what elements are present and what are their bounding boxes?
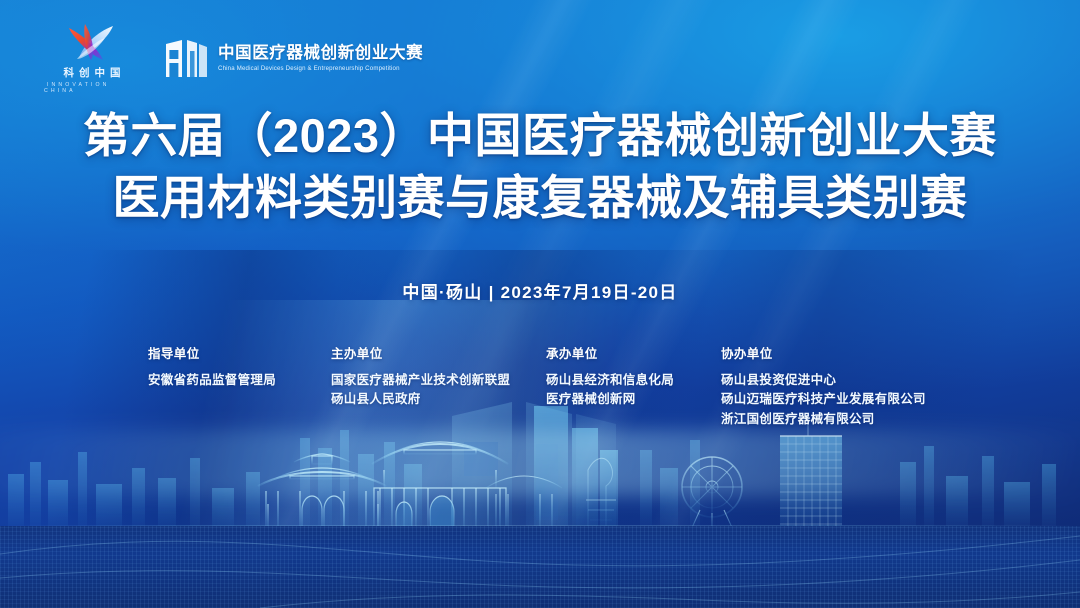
organizer-unit: 国家医疗器械产业技术创新联盟	[331, 371, 546, 390]
organizer-unit: 医疗器械创新网	[546, 390, 721, 409]
organizer-unit: 砀山县投资促进中心	[721, 371, 926, 390]
organizer-list: 指导单位 安徽省药品监督管理局 主办单位 国家医疗器械产业技术创新联盟 砀山县人…	[148, 343, 968, 429]
logo-bar: 科创中国 INNOVATION CHINA 中国医疗器械创新创业大赛 China…	[44, 22, 423, 94]
phoenix-bird-emblem	[61, 22, 123, 62]
organizer-unit: 砀山县人民政府	[331, 390, 546, 409]
organizer-unit: 浙江国创医疗器械有限公司	[721, 410, 926, 429]
organizer-unit: 砀山迈瑞医疗科技产业发展有限公司	[721, 390, 926, 409]
open-door-emblem	[164, 37, 208, 79]
innovation-china-logo: 科创中国 INNOVATION CHINA	[44, 22, 140, 94]
organizer-column-undertaker: 承办单位 砀山县经济和信息化局 医疗器械创新网	[546, 343, 721, 429]
innovation-china-cn: 科创中国	[59, 65, 126, 80]
organizer-unit: 砀山县经济和信息化局	[546, 371, 721, 390]
organizer-unit: 安徽省药品监督管理局	[148, 371, 331, 390]
title-line-1: 第六届（2023）中国医疗器械创新创业大赛	[0, 105, 1080, 167]
organizer-column-host: 主办单位 国家医疗器械产业技术创新联盟 砀山县人民政府	[331, 343, 546, 429]
ground-curve-lines	[0, 520, 1080, 608]
event-location-date: 中国·砀山 | 2023年7月19日-20日	[0, 278, 1080, 303]
organizer-column-coorganizer: 协办单位 砀山县投资促进中心 砀山迈瑞医疗科技产业发展有限公司 浙江国创医疗器械…	[721, 343, 926, 429]
page-title: 第六届（2023）中国医疗器械创新创业大赛 医用材料类别赛与康复器械及辅具类别赛	[0, 105, 1080, 229]
innovation-china-en: INNOVATION CHINA	[44, 82, 140, 94]
organizer-role: 指导单位	[148, 343, 331, 362]
competition-logo: 中国医疗器械创新创业大赛 China Medical Devices Desig…	[164, 37, 423, 79]
event-banner: 科创中国 INNOVATION CHINA 中国医疗器械创新创业大赛 China…	[0, 0, 1080, 608]
organizer-role: 主办单位	[331, 343, 546, 362]
organizer-role: 承办单位	[546, 343, 721, 362]
title-line-2: 医用材料类别赛与康复器械及辅具类别赛	[0, 167, 1080, 229]
organizer-column-guidance: 指导单位 安徽省药品监督管理局	[148, 343, 331, 429]
organizer-role: 协办单位	[721, 343, 926, 362]
competition-logo-en: China Medical Devices Design & Entrepren…	[218, 65, 423, 72]
competition-logo-cn: 中国医疗器械创新创业大赛	[218, 44, 423, 62]
